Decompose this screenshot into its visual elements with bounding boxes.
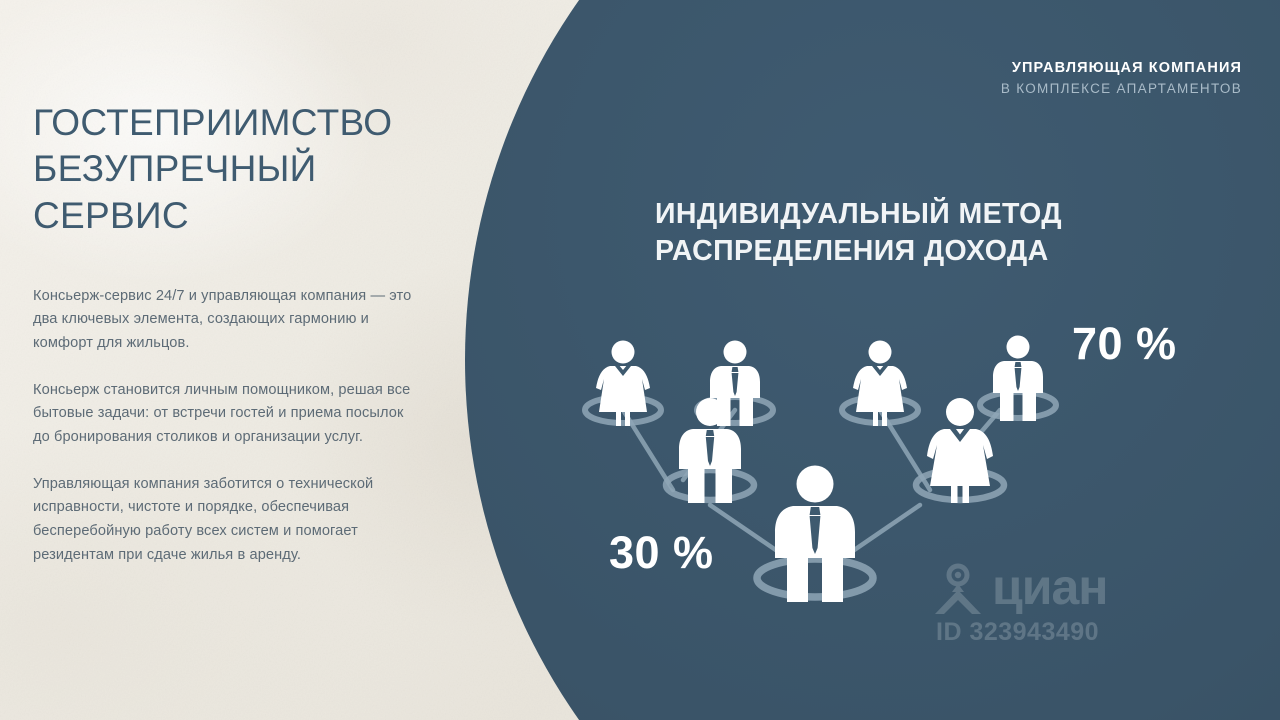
brand-title: УПРАВЛЯЮЩАЯ КОМПАНИЯ [1001, 60, 1242, 76]
brand-subtitle: В КОМПЛЕКСЕ АПАРТАМЕНТОВ [1001, 81, 1242, 96]
left-content-column: ГОСТЕПРИИМСТВО БЕЗУПРЕЧНЫЙ СЕРВИС Консье… [33, 100, 423, 567]
section-headline: ИНДИВИДУАЛЬНЫЙ МЕТОД РАСПРЕДЕЛЕНИЯ ДОХОД… [655, 196, 1195, 270]
org-node-top-5 [980, 336, 1056, 422]
paragraph-3: Управляющая компания заботится о техниче… [33, 473, 423, 568]
paragraph-2: Консьерж становится личным помощником, р… [33, 379, 423, 450]
page-title: ГОСТЕПРИИМСТВО БЕЗУПРЕЧНЫЙ СЕРВИС [33, 100, 423, 239]
org-chart-graphic [580, 300, 1100, 620]
body-copy: Консьерж-сервис 24/7 и управляющая компа… [33, 285, 423, 567]
brand-header: УПРАВЛЯЮЩАЯ КОМПАНИЯ В КОМПЛЕКСЕ АПАРТАМ… [1001, 60, 1242, 96]
org-node-root [757, 466, 873, 603]
slide-canvas: ГОСТЕПРИИМСТВО БЕЗУПРЕЧНЫЙ СЕРВИС Консье… [0, 0, 1280, 720]
paragraph-1: Консьерж-сервис 24/7 и управляющая компа… [33, 285, 423, 356]
